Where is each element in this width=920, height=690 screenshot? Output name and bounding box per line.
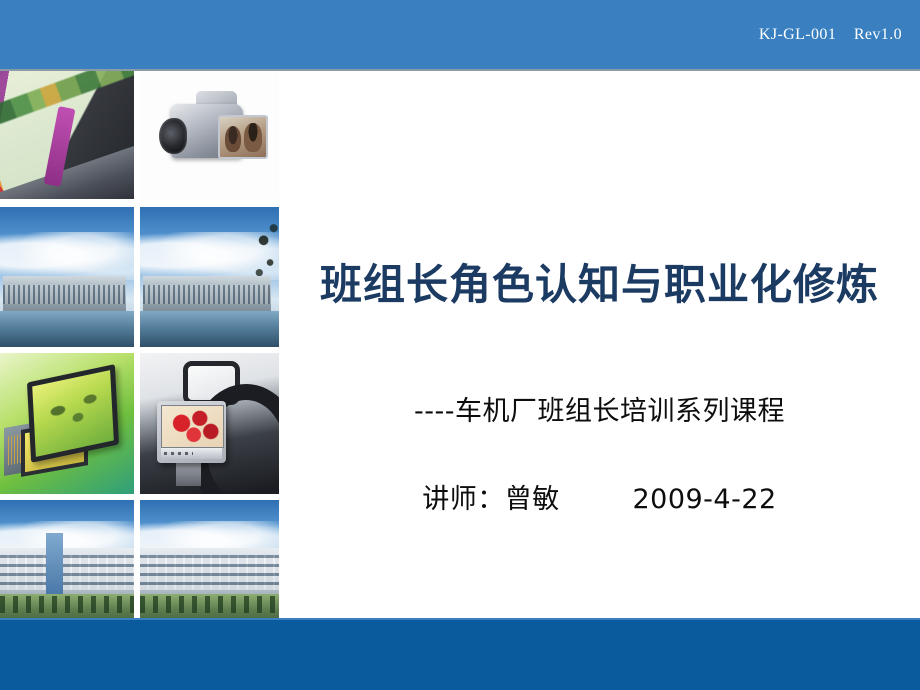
car-dashboard-lcd-photo (140, 353, 279, 494)
office-building (0, 548, 134, 596)
water-surface (140, 311, 279, 347)
cloud-layer (0, 232, 134, 280)
water-surface (0, 311, 134, 347)
camcorder-flip-screen (218, 115, 268, 160)
office-building (140, 548, 279, 596)
course-subtitle: ----车机厂班组长培训系列课程 (279, 389, 920, 428)
office-building-photo-right (140, 500, 279, 619)
office-scene-left (0, 500, 134, 619)
lcd-main-panel (27, 364, 119, 462)
document-code-label: KJ-GL-001 Rev1.0 (759, 26, 902, 44)
monitor-stand (176, 463, 201, 486)
factory-waterfront-photo-left (0, 207, 134, 347)
gps-navigation-map-photo (0, 71, 134, 199)
car-interior-graphic (140, 353, 279, 494)
office-building-photo-left (0, 500, 134, 619)
camcorder-lens (159, 118, 187, 154)
waterfront-scene-left (0, 207, 134, 347)
office-scene-right (140, 500, 279, 619)
presenter-and-date: 讲师：曾敏 2009-4-22 (279, 477, 920, 516)
camcorder-graphic (140, 71, 279, 199)
landscaping-row (140, 594, 279, 619)
lcd-module-graphic (0, 353, 134, 494)
page-title: 班组长角色认知与职业化修炼 (279, 263, 920, 308)
gps-map-graphic (0, 71, 134, 199)
presentation-slide: KJ-GL-001 Rev1.0 (0, 0, 920, 690)
slide-content-area: 班组长角色认知与职业化修炼 ----车机厂班组长培训系列课程 讲师：曾敏 200… (279, 71, 920, 618)
building-tower-section (46, 533, 63, 595)
landscaping-row (0, 594, 134, 619)
dashboard-monitor (157, 401, 227, 463)
monitor-control-panel (161, 448, 222, 459)
factory-building (3, 276, 126, 311)
monitor-screen-image (161, 405, 224, 448)
waterfront-scene-right (140, 207, 279, 347)
factory-waterfront-photo-right (140, 207, 279, 347)
slide-footer-band (0, 620, 920, 690)
camcorder-photo (140, 71, 279, 199)
factory-building (143, 276, 271, 311)
lcd-display-module-photo (0, 353, 134, 494)
photo-mosaic (0, 71, 279, 619)
